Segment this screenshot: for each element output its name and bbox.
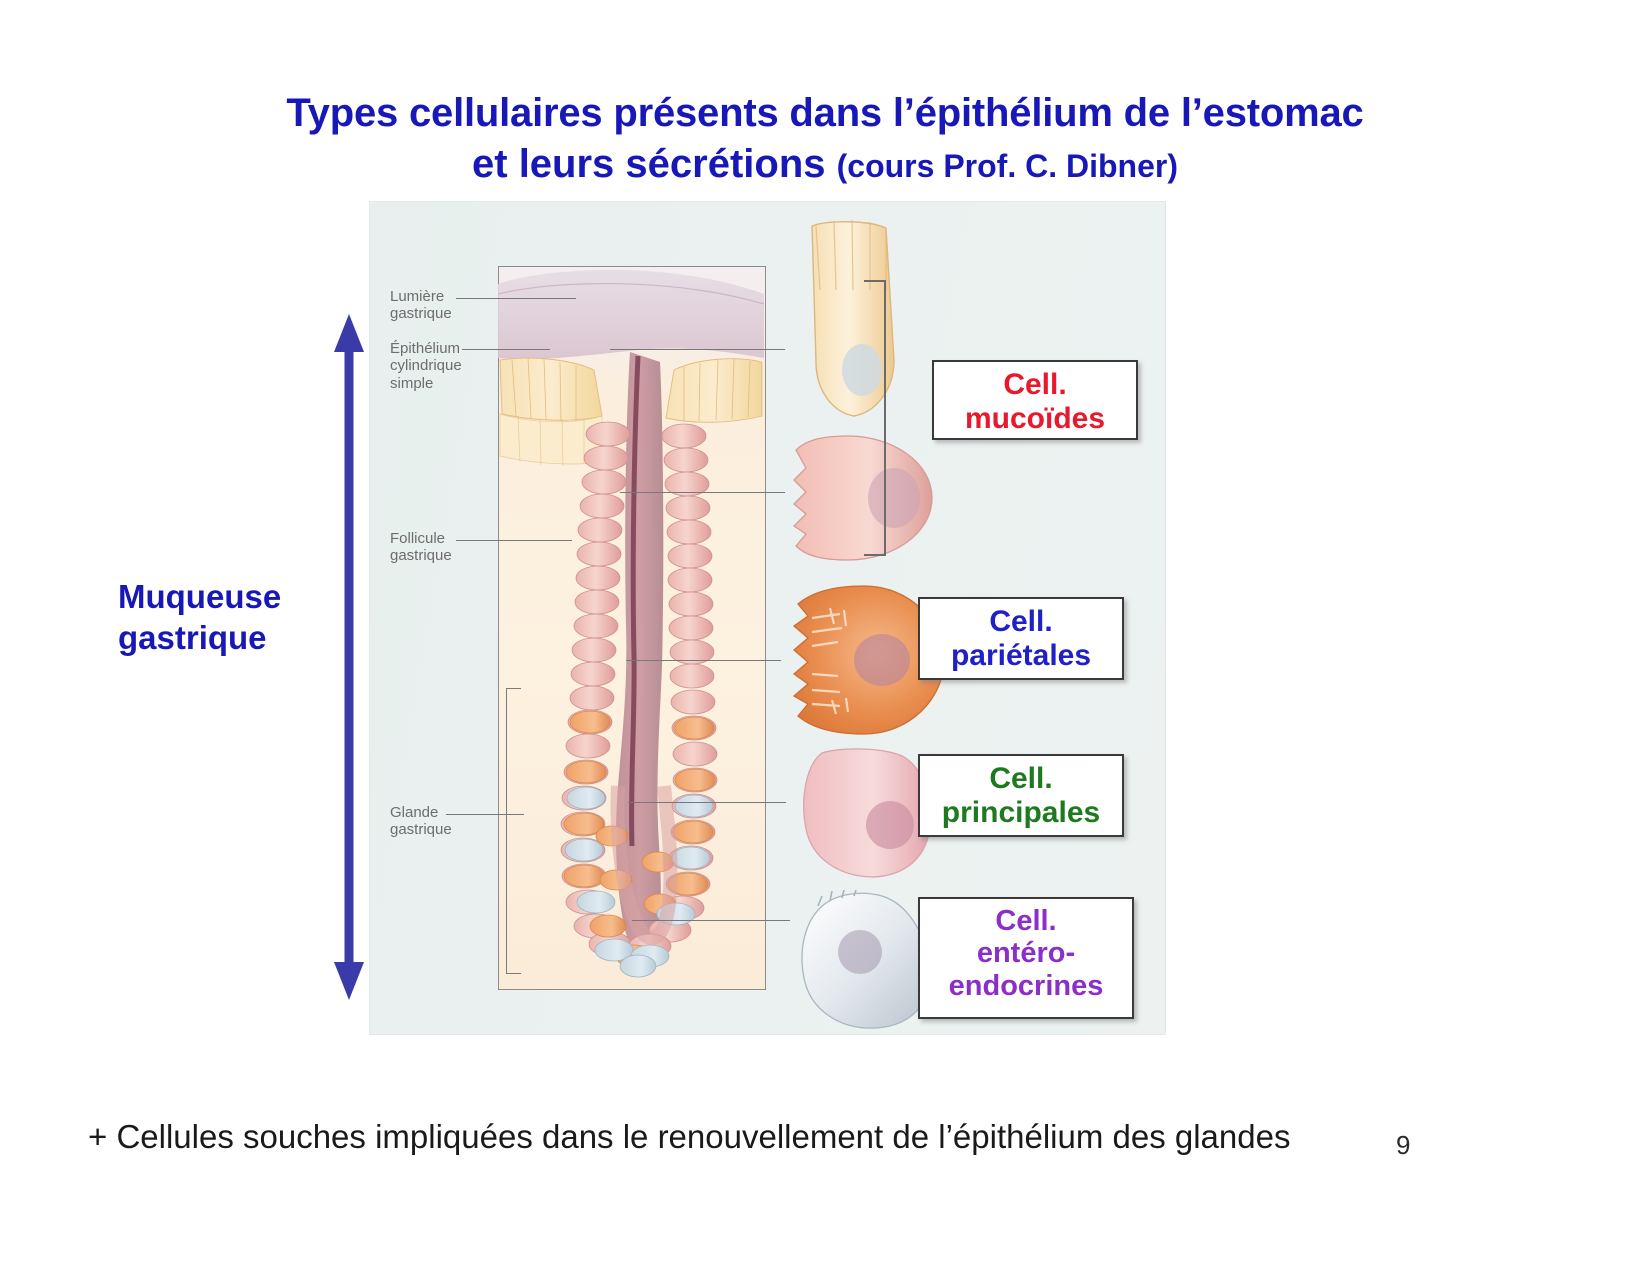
page-number: 9 xyxy=(1396,1130,1410,1161)
mucosa-label-line2: gastrique xyxy=(118,617,281,658)
mucosa-extent-arrow-icon xyxy=(326,312,372,1002)
gastric-gland-bracket xyxy=(506,688,521,974)
box-endocrines-line1: Cell. xyxy=(930,905,1122,937)
chief-cell-drawing xyxy=(788,747,938,879)
leader-epithelium xyxy=(462,349,550,350)
mucosa-label-line1: Muqueuse xyxy=(118,576,281,617)
gastric-gland-illustration xyxy=(498,266,764,988)
leader-lumiere xyxy=(456,298,576,299)
box-parietales-line2: pariétales xyxy=(930,639,1112,673)
box-endocrines-line2: entéro- xyxy=(930,937,1122,969)
cell-type-box-mucoides[interactable]: Cell. mucoïdes xyxy=(932,360,1138,440)
cell-type-box-parietales[interactable]: Cell. pariétales xyxy=(918,597,1124,680)
label-lumiere-gastrique: Lumière gastrique xyxy=(390,288,452,323)
mucous-cell-drawing xyxy=(790,220,920,425)
title-line-2: et leurs sécrétions (cours Prof. C. Dibn… xyxy=(0,139,1650,190)
leader-parietal xyxy=(626,660,781,661)
leader-neck-mucous xyxy=(620,492,785,493)
leader-follicule xyxy=(456,540,572,541)
box-mucoides-line1: Cell. xyxy=(944,368,1126,402)
label-epithelium-line2: cylindrique xyxy=(390,357,462,374)
label-epithelium-line3: simple xyxy=(390,375,462,392)
label-glande-line2: gastrique xyxy=(390,821,452,838)
label-glande-line1: Glande xyxy=(390,804,452,821)
box-principales-line1: Cell. xyxy=(930,762,1112,796)
label-epithelium-line1: Épithélium xyxy=(390,340,462,357)
box-endocrines-line3: endocrines xyxy=(930,970,1122,1002)
cell-type-box-entero-endocrines[interactable]: Cell. entéro- endocrines xyxy=(918,897,1134,1019)
title-line-1: Types cellulaires présents dans l’épithé… xyxy=(0,88,1650,139)
gastric-mucosa-figure: Lumière gastrique Épithélium cylindrique… xyxy=(370,202,1165,1034)
label-lumiere-line2: gastrique xyxy=(390,305,452,322)
label-epithelium-cylindrique-simple: Épithélium cylindrique simple xyxy=(390,340,462,392)
mucous-cells-bracket xyxy=(864,280,886,556)
title-subtitle: (cours Prof. C. Dibner) xyxy=(837,148,1178,184)
neck-mucous-cell-drawing xyxy=(782,434,942,562)
box-mucoides-line2: mucoïdes xyxy=(944,402,1126,436)
label-follicule-gastrique: Follicule gastrique xyxy=(390,530,452,565)
cell-type-box-principales[interactable]: Cell. principales xyxy=(918,754,1124,837)
box-principales-line2: principales xyxy=(930,796,1112,830)
label-follicule-line2: gastrique xyxy=(390,547,452,564)
mucosa-label: Muqueuse gastrique xyxy=(118,576,281,659)
page-title: Types cellulaires présents dans l’épithé… xyxy=(0,88,1650,190)
label-follicule-line1: Follicule xyxy=(390,530,452,547)
slide-caption: + Cellules souches impliquées dans le re… xyxy=(88,1118,1290,1156)
box-parietales-line1: Cell. xyxy=(930,605,1112,639)
label-glande-gastrique: Glande gastrique xyxy=(390,804,452,839)
title-line-2-main: et leurs sécrétions xyxy=(472,142,837,186)
leader-mucous-surface xyxy=(610,349,785,350)
leader-enteroendocrine xyxy=(632,920,790,921)
leader-chief xyxy=(628,802,786,803)
label-lumiere-line1: Lumière xyxy=(390,288,452,305)
